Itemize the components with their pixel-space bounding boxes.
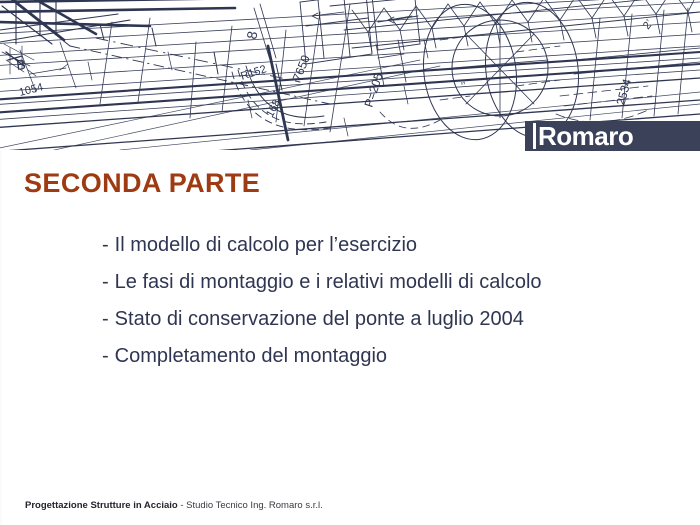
page-title: SECONDA PARTE bbox=[24, 168, 260, 199]
romaro-logo: Romaro bbox=[525, 121, 700, 151]
svg-text:8: 8 bbox=[243, 29, 260, 40]
bullet-marker: - bbox=[102, 264, 109, 301]
bullet-text: Il modello di calcolo per l’esercizio bbox=[115, 227, 417, 264]
slide-footer: Progettazione Strutture in Acciaio - Stu… bbox=[25, 500, 323, 511]
footer-company: Progettazione Strutture in Acciaio bbox=[25, 500, 178, 511]
bullet-marker: - bbox=[102, 301, 109, 338]
left-edge-tint bbox=[0, 150, 2, 525]
romaro-logo-text: Romaro bbox=[534, 123, 633, 149]
bullet-text: Le fasi di montaggio e i relativi modell… bbox=[115, 264, 542, 301]
bullet-text: Stato di conservazione del ponte a lugli… bbox=[115, 301, 524, 338]
bullet-list: - Il modello di calcolo per l’esercizio … bbox=[102, 227, 542, 375]
svg-text:2’: 2’ bbox=[641, 18, 656, 32]
svg-text:2534: 2534 bbox=[613, 77, 634, 107]
list-item: - Stato di conservazione del ponte a lug… bbox=[102, 301, 542, 338]
list-item: - Il modello di calcolo per l’esercizio bbox=[102, 227, 542, 264]
list-item: - Le fasi di montaggio e i relativi mode… bbox=[102, 264, 542, 301]
svg-text:R152: R152 bbox=[239, 63, 268, 83]
list-item: - Completamento del montaggio bbox=[102, 338, 542, 375]
romaro-logo-initial: R bbox=[533, 123, 556, 149]
footer-subtitle: - Studio Tecnico Ing. Romaro s.r.l. bbox=[178, 500, 323, 511]
romaro-logo-rest: omaro bbox=[556, 121, 633, 151]
bullet-marker: - bbox=[102, 338, 109, 375]
slide: 1054 B bbox=[0, 0, 700, 525]
bullet-text: Completamento del montaggio bbox=[115, 338, 387, 375]
bullet-marker: - bbox=[102, 227, 109, 264]
